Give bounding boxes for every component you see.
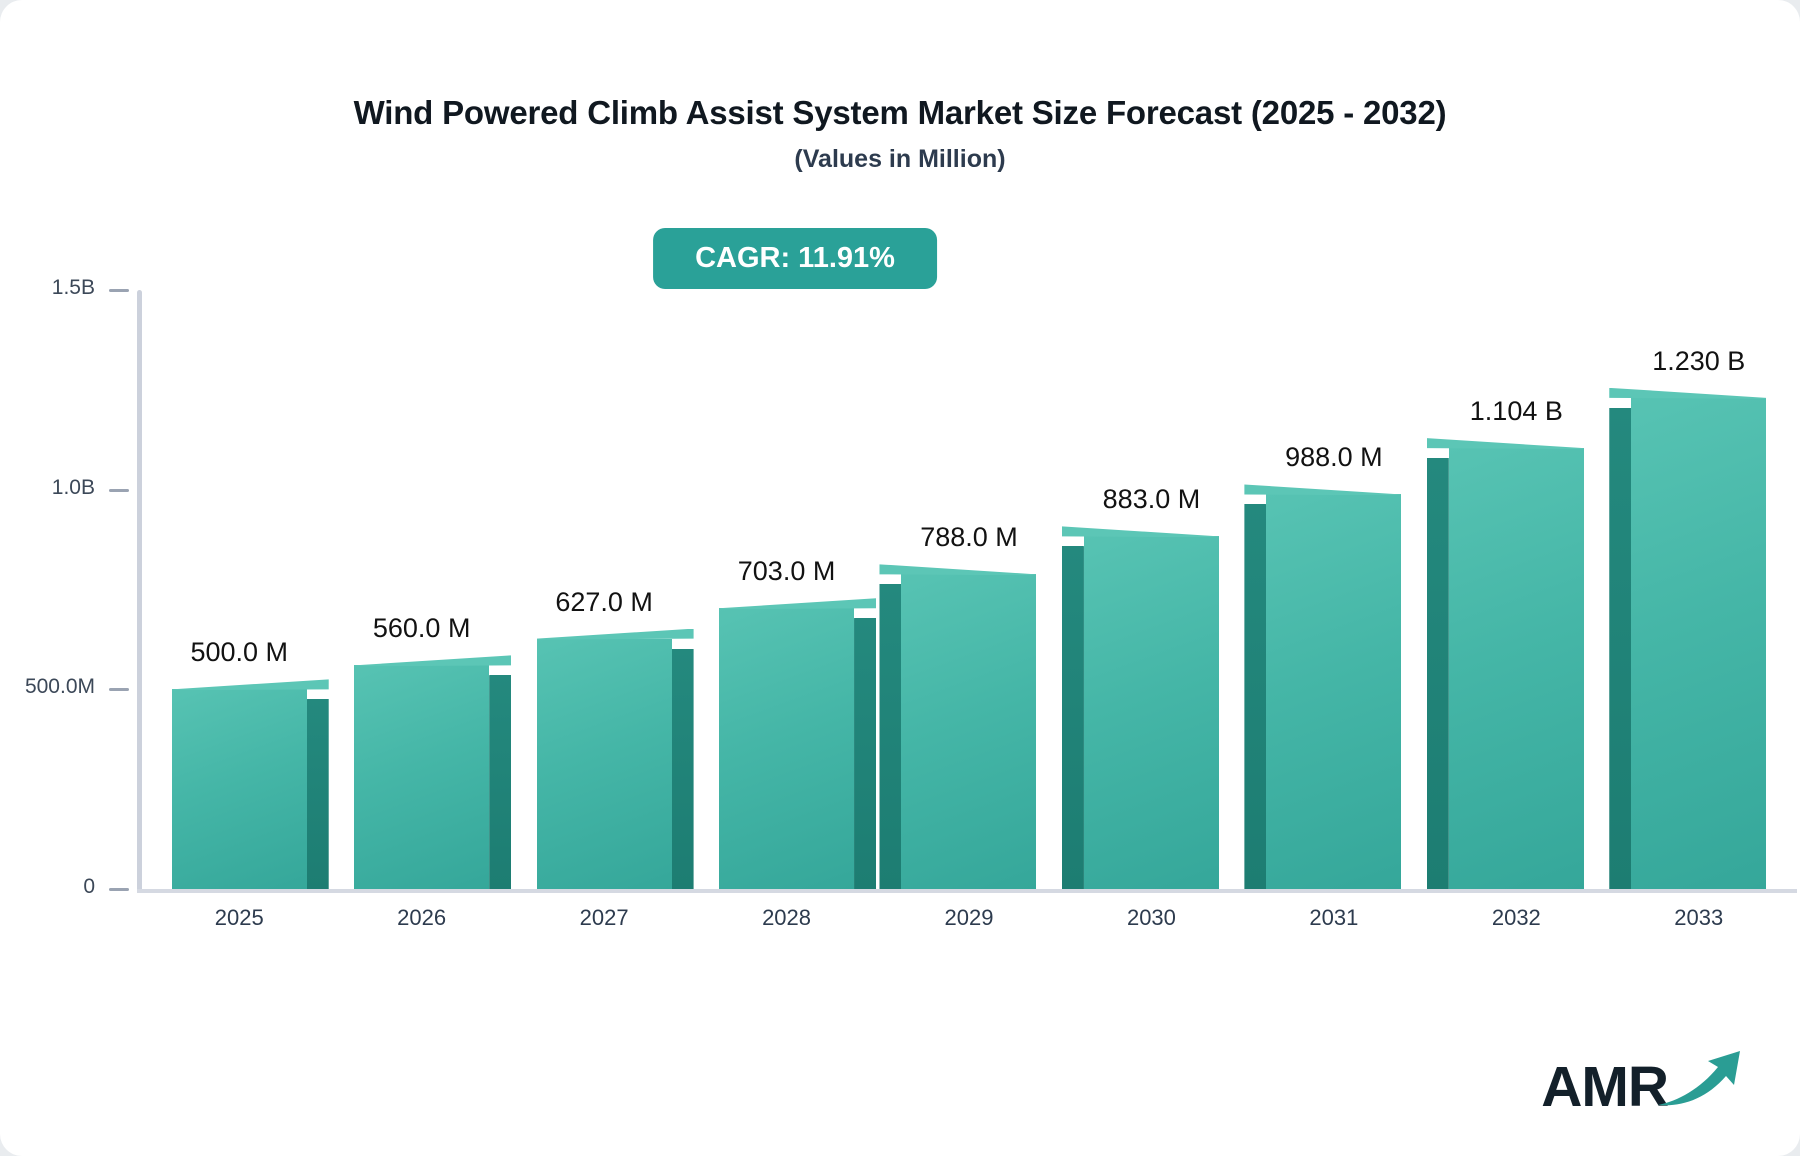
bar-front-face <box>1084 536 1219 889</box>
bar-2033[interactable] <box>1631 398 1766 889</box>
bar-top-face <box>537 629 694 640</box>
bar-front-face <box>1631 398 1766 889</box>
bar-value-label: 627.0 M <box>555 587 653 618</box>
y-axis-tick-label: 500.0M <box>0 675 95 699</box>
x-axis-tick-label: 2028 <box>695 905 877 931</box>
bar-value-label: 788.0 M <box>920 522 1018 553</box>
bar-2028[interactable] <box>719 608 854 889</box>
bar-value-label: 703.0 M <box>738 556 836 587</box>
x-axis-line <box>137 889 1797 893</box>
y-axis-tick-mark <box>109 289 129 292</box>
x-axis-tick-label: 2026 <box>330 905 512 931</box>
bar-2029[interactable] <box>901 574 1036 889</box>
bar-2030[interactable] <box>1084 536 1219 889</box>
bar-side-face <box>672 649 694 889</box>
bar-value-label: 1.230 B <box>1652 346 1745 377</box>
bar-top-face <box>1062 526 1219 537</box>
bar-front-face <box>354 665 489 889</box>
y-axis-tick-mark <box>109 688 129 691</box>
y-axis-tick-label: 0 <box>0 875 95 899</box>
bar-top-face <box>172 679 329 690</box>
bar-2031[interactable] <box>1266 494 1401 889</box>
page-title: Wind Powered Climb Assist System Market … <box>0 94 1800 132</box>
bar-top-face <box>1244 484 1401 495</box>
bar-2032[interactable] <box>1449 448 1584 889</box>
bar-side-face <box>1609 408 1631 889</box>
bar-front-face <box>172 689 307 889</box>
bar-2027[interactable] <box>537 639 672 889</box>
y-axis-tick-mark <box>109 489 129 492</box>
chart-card: Wind Powered Climb Assist System Market … <box>0 0 1800 1156</box>
bar-front-face <box>1449 448 1584 889</box>
bar-top-face <box>879 564 1036 575</box>
bar-front-face <box>719 608 854 889</box>
x-axis-tick-label: 2030 <box>1060 905 1242 931</box>
y-axis-tick-label: 1.5B <box>0 276 95 300</box>
bar-value-label: 560.0 M <box>373 613 471 644</box>
bar-2025[interactable] <box>172 689 307 889</box>
bar-side-face <box>1427 458 1449 889</box>
bar-side-face <box>307 699 329 889</box>
bar-value-label: 988.0 M <box>1285 442 1383 473</box>
bar-value-label: 500.0 M <box>190 637 288 668</box>
bar-value-label: 883.0 M <box>1103 484 1201 515</box>
bar-value-label: 1.104 B <box>1470 396 1563 427</box>
bar-front-face <box>1266 494 1401 889</box>
bar-front-face <box>537 639 672 889</box>
bar-side-face <box>1062 546 1084 889</box>
x-axis-tick-label: 2025 <box>148 905 330 931</box>
bar-side-face <box>854 618 876 889</box>
x-axis-tick-label: 2031 <box>1243 905 1425 931</box>
y-axis-tick-mark <box>109 888 129 891</box>
logo-text: AMR <box>1541 1059 1668 1116</box>
y-axis-line <box>137 290 142 892</box>
bar-top-face <box>354 655 511 666</box>
cagr-badge: CAGR: 11.91% <box>653 228 937 289</box>
trend-up-arrow-icon <box>1656 1045 1742 1114</box>
bar-front-face <box>901 574 1036 889</box>
bar-2026[interactable] <box>354 665 489 889</box>
x-axis-tick-label: 2027 <box>513 905 695 931</box>
bar-top-face <box>719 598 876 609</box>
x-axis-tick-label: 2033 <box>1608 905 1790 931</box>
amr-logo: AMR <box>1541 1045 1742 1116</box>
bar-side-face <box>1244 504 1266 889</box>
bar-side-face <box>879 584 901 889</box>
x-axis-tick-label: 2029 <box>878 905 1060 931</box>
bar-side-face <box>489 675 511 889</box>
x-axis-tick-label: 2032 <box>1425 905 1607 931</box>
bar-top-face <box>1427 438 1584 449</box>
y-axis-tick-label: 1.0B <box>0 476 95 500</box>
chart-subtitle: (Values in Million) <box>0 145 1800 174</box>
bar-top-face <box>1609 388 1766 399</box>
